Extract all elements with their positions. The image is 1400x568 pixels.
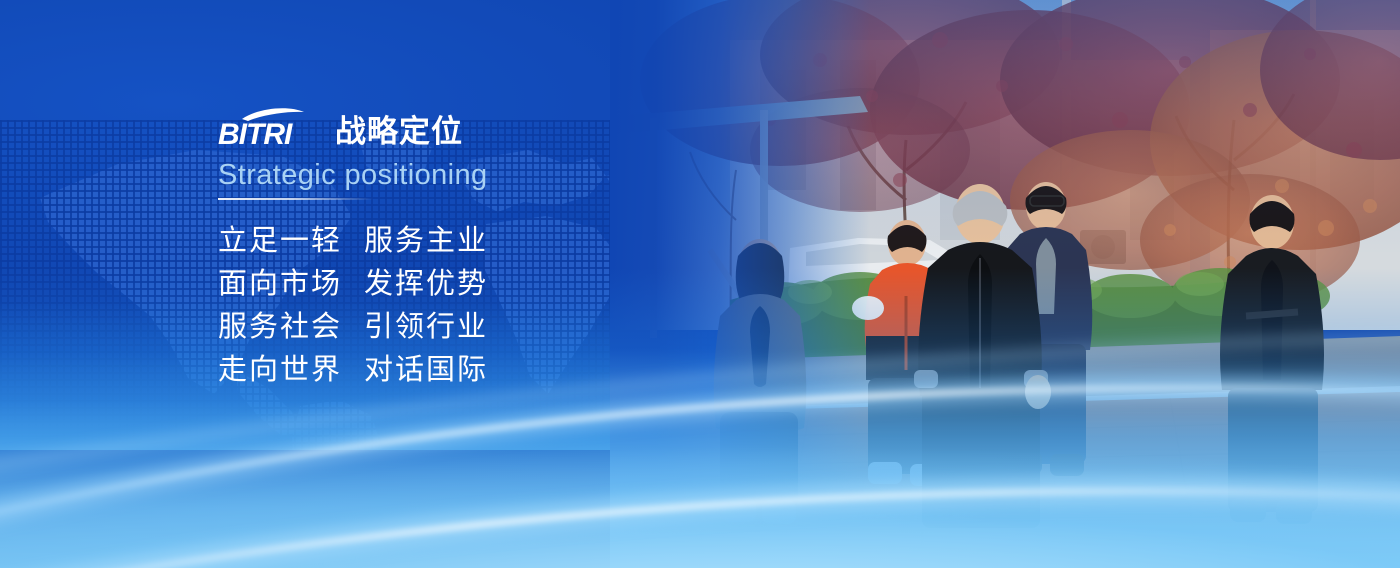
svg-text:BITRI: BITRI xyxy=(218,118,293,150)
slogan-right: 服务主业 xyxy=(364,225,488,257)
slogan-left: 服务社会 xyxy=(218,311,342,343)
slogan-line: 面向市场发挥优势 xyxy=(218,263,638,306)
slogan-right: 发挥优势 xyxy=(364,268,488,300)
slogan-right: 对话国际 xyxy=(364,354,488,386)
slogan-line: 立足一轻服务主业 xyxy=(218,220,638,263)
slogan-line: 服务社会引领行业 xyxy=(218,306,638,349)
slogan-left: 面向市场 xyxy=(218,268,342,300)
slogan-right: 引领行业 xyxy=(364,311,488,343)
banner-title-cn: 战略定位 xyxy=(335,115,463,150)
slogan-list: 立足一轻服务主业 面向市场发挥优势 服务社会引领行业 走向世界对话国际 xyxy=(218,220,638,392)
title-divider xyxy=(218,198,373,200)
banner-content: BITRI 战略定位 Strategic positioning 立足一轻服务主… xyxy=(218,104,638,392)
strategic-positioning-banner: BITRI 战略定位 Strategic positioning 立足一轻服务主… xyxy=(0,0,1400,568)
banner-subtitle-en: Strategic positioning xyxy=(218,158,638,192)
bottom-glow-core xyxy=(0,418,1400,568)
brand-logo-row: BITRI 战略定位 xyxy=(218,104,638,150)
slogan-left: 立足一轻 xyxy=(218,225,342,257)
slogan-line: 走向世界对话国际 xyxy=(218,349,638,392)
bitri-logo: BITRI xyxy=(218,104,321,150)
slogan-left: 走向世界 xyxy=(218,354,342,386)
